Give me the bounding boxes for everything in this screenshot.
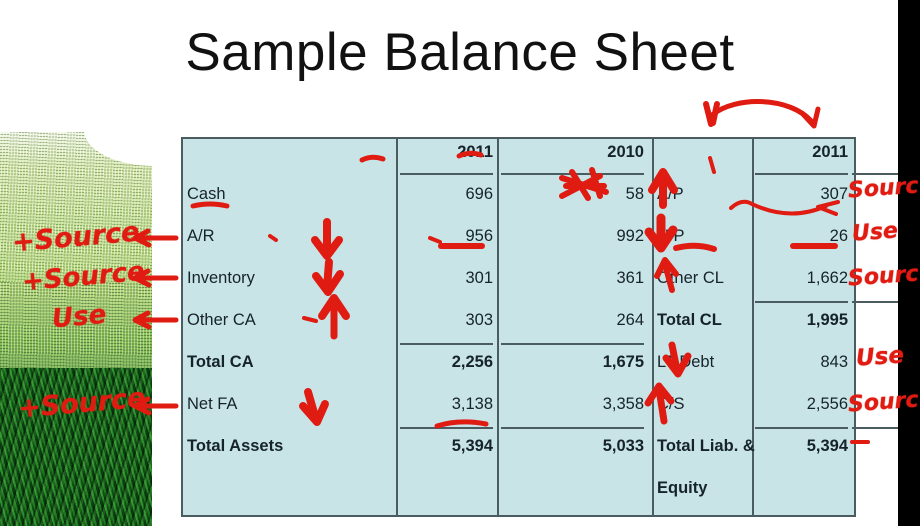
cell-2011-total-ca: 2,256 [398,353,493,372]
rule-total-assets-2011 [400,427,493,429]
rule-right-header [755,173,848,175]
cell-2011-net-fa: 3,138 [398,395,493,414]
rule-left-header-2010 [501,173,644,175]
handwritten-use-other-ca: Use [51,300,108,335]
handwritten-sourc-c-s: Sourc [847,388,919,418]
row-label-total-assets: Total Assets [187,437,392,456]
row-label-cash: Cash [187,185,392,204]
divider-table-split [652,139,654,515]
row-label-total-cl: Total CL [657,311,767,330]
cell-2010-net-fa: 3,358 [499,395,644,414]
cell-2010-cash: 58 [499,185,644,204]
row-label-other-ca: Other CA [187,311,392,330]
cell-2011-a-r: 956 [398,227,493,246]
cell-2010-a-r: 992 [499,227,644,246]
slide-canvas: Sample Balance Sheet 2011201020112010Cas… [0,0,920,526]
row-label-c-s: C/S [657,395,767,414]
row-label-inventory: Inventory [187,269,392,288]
cell-2010-total-ca: 1,675 [499,353,644,372]
cell-2011-c-s: 2,556 [753,395,848,414]
cell-2010-other-ca: 264 [499,311,644,330]
row-label-equity: Equity [657,479,767,498]
cell-2011-n-p: 26 [753,227,848,246]
handwritten-sourc-other-cl: Sourc [847,262,919,292]
row-label-total-ca: Total CA [187,353,392,372]
row-label-n-p: N/P [657,227,767,246]
cell-2011-other-ca: 303 [398,311,493,330]
header-right-2011: 2011 [753,143,848,162]
row-label-other-cl: Other CL [657,269,767,288]
cell-2011-other-cl: 1,662 [753,269,848,288]
rule-total-ca-2010 [501,343,644,345]
header-left-2011: 2011 [398,143,493,162]
handwritten-use-lt-debt: Use [855,342,905,371]
balance-sheet-table: 2011201020112010Cash69658A/R956992Invent… [181,137,856,517]
header-left-2010: 2010 [499,143,644,162]
cell-2011-cash: 696 [398,185,493,204]
row-label-a-p: A/P [657,185,767,204]
rule-total-ca-2011 [400,343,493,345]
cell-2011-lt-debt: 843 [753,353,848,372]
row-label-lt-debt: LT Debt [657,353,767,372]
handwritten-sourc-a-p: Sourc [847,174,919,204]
cell-2011-inventory: 301 [398,269,493,288]
cell-2011-a-p: 307 [753,185,848,204]
rule-total-liab-2011 [755,427,848,429]
row-label-a-r: A/R [187,227,392,246]
rule-total-assets-2010 [501,427,644,429]
rule-left-header [400,173,493,175]
curved-arrow-2011-to-2010 [706,102,818,126]
row-label-total-liab: Total Liab. & [657,437,767,456]
cell-2011-total-liab: 5,394 [753,437,848,456]
row-label-net-fa: Net FA [187,395,392,414]
cell-2010-total-assets: 5,033 [499,437,644,456]
cell-2011-total-cl: 1,995 [753,311,848,330]
cell-2011-total-assets: 5,394 [398,437,493,456]
page-title: Sample Balance Sheet [0,22,920,83]
rule-total-cl-2011 [755,301,848,303]
cell-2010-inventory: 361 [499,269,644,288]
handwritten-use-n-p: Use [851,218,899,246]
